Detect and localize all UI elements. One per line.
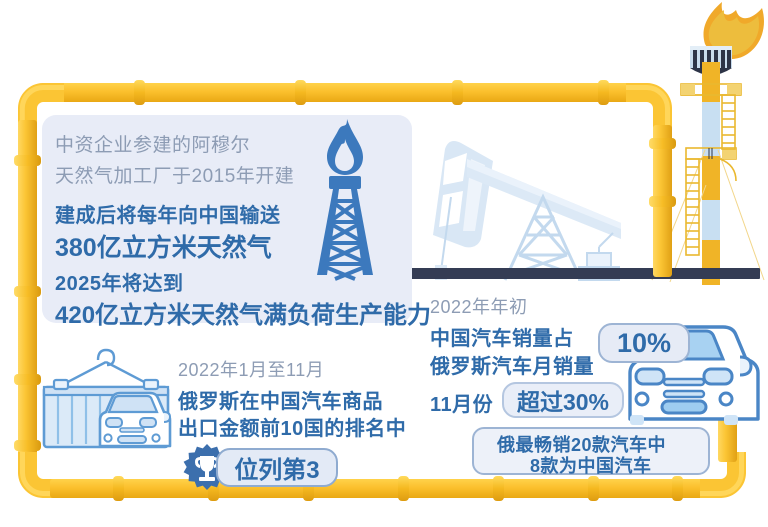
gas-line-6: 420亿立方米天然气满负荷生产能力 xyxy=(55,295,431,330)
pipe-collar xyxy=(588,476,599,501)
pipe-corner-top-right xyxy=(626,83,672,129)
export-line-2: 俄罗斯在中国汽车商品 xyxy=(178,385,383,414)
gas-line-4: 380亿立方米天然气 xyxy=(55,228,272,264)
sales-line-2: 中国汽车销量占 xyxy=(430,322,574,351)
sales-line-3: 俄罗斯汽车月销量 xyxy=(430,350,594,379)
pumpjack-icon xyxy=(415,135,645,280)
pipe-collar xyxy=(398,476,409,501)
models-line-2: 8款为中国汽车 xyxy=(530,452,652,478)
november-share-badge: 超过30% xyxy=(502,382,624,418)
pipe-collar xyxy=(452,80,463,105)
pipe-collar xyxy=(672,476,683,501)
pipe-collar xyxy=(14,155,41,166)
shipping-container-icon xyxy=(28,340,193,452)
gas-line-5: 2025年将达到 xyxy=(55,267,184,296)
pipe-collar xyxy=(113,476,124,501)
pipe-collar xyxy=(295,80,306,105)
oil-derrick-icon xyxy=(295,115,395,280)
gas-line-2: 天然气加工厂于2015年开建 xyxy=(55,161,294,188)
sales-line-4: 11月份 xyxy=(430,388,493,417)
export-line-1: 2022年1月至11月 xyxy=(178,356,324,382)
infographic-canvas: 中资企业参建的阿穆尔 天然气加工厂于2015年开建 建成后将每年向中国输送 38… xyxy=(0,0,768,527)
china-share-badge: 10% xyxy=(598,323,690,363)
pipe-collar xyxy=(14,286,41,297)
pipe-collar xyxy=(649,138,676,149)
export-rank-badge: 位列第3 xyxy=(216,448,338,487)
pipe-collar xyxy=(134,80,145,105)
pipe-collar xyxy=(493,476,504,501)
sales-line-1: 2022年年初 xyxy=(430,293,528,319)
pipe-collar xyxy=(649,196,676,207)
pipe-bottom xyxy=(50,479,722,498)
gas-line-3: 建成后将每年向中国输送 xyxy=(55,199,281,228)
pipe-top xyxy=(40,83,648,102)
gas-line-1: 中资企业参建的阿穆尔 xyxy=(55,130,250,157)
export-line-3: 出口金额前10国的排名中 xyxy=(178,412,406,441)
pipe-collar xyxy=(598,80,609,105)
